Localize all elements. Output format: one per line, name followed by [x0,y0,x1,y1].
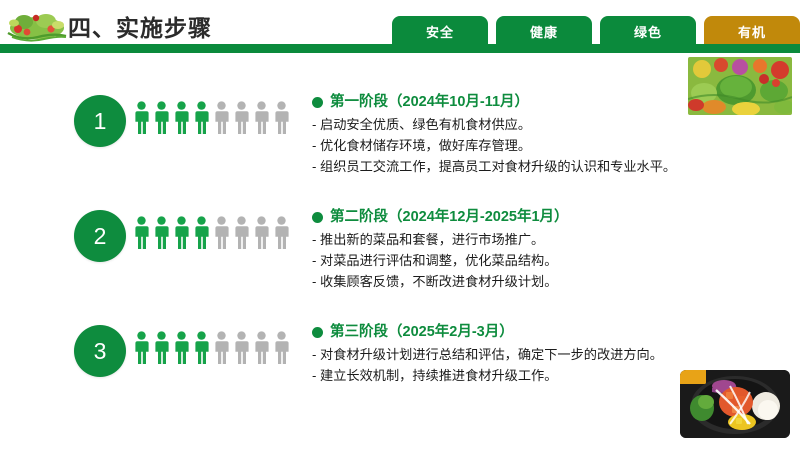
tab-label: 健康 [530,22,558,41]
person-icon [173,331,190,369]
phase-line: - 组织员工交流工作，提高员工对食材升级的认识和专业水平。 [312,156,712,177]
tab-label: 安全 [426,22,454,41]
person-icon [133,216,150,254]
page-title: 四、实施步骤 [68,9,212,43]
phase-title-row: 第二阶段（2024年12月-2025年1月） [312,208,712,226]
person-icon [133,331,150,369]
tab-youji[interactable]: 有机 [704,16,800,46]
phase-line: - 推出新的菜品和套餐，进行市场推广。 [312,229,712,250]
person-icon [153,101,170,139]
tab-anquan[interactable]: 安全 [392,16,488,46]
slide-header: 四、实施步骤 安全 健康 绿色 有机 [0,0,800,53]
tab-lvse[interactable]: 绿色 [600,16,696,46]
person-icon [133,101,150,139]
tab-label: 有机 [738,22,766,41]
people-pictogram-3 [133,331,290,369]
person-icon [193,216,210,254]
person-icon [233,331,250,369]
person-icon [213,101,230,139]
phase-number-badge: 3 [74,325,126,377]
person-icon [173,216,190,254]
phase-number-badge: 2 [74,210,126,262]
person-icon [153,216,170,254]
bullet-dot-icon [312,327,323,338]
phase-line: - 对菜品进行评估和调整，优化菜品结构。 [312,250,712,271]
person-icon [213,216,230,254]
person-icon [173,101,190,139]
phase-text-1: 第一阶段（2024年10月-11月） - 启动安全优质、绿色有机食材供应。 - … [312,93,712,177]
phase-title-label: 第三阶段（2025年2月-3月） [330,323,514,341]
people-pictogram-1 [133,101,290,139]
phase-title-label: 第一阶段（2024年10月-11月） [330,93,529,111]
phase-line: - 收集顾客反馈，不断改进食材升级计划。 [312,271,712,292]
person-icon [253,216,270,254]
person-icon [253,101,270,139]
phase-text-2: 第二阶段（2024年12月-2025年1月） - 推出新的菜品和套餐，进行市场推… [312,208,712,292]
people-pictogram-2 [133,216,290,254]
person-icon [153,331,170,369]
person-icon [253,331,270,369]
person-icon [193,331,210,369]
person-icon [273,331,290,369]
phase-title-row: 第一阶段（2024年10月-11月） [312,93,712,111]
person-icon [233,101,250,139]
header-divider [0,44,800,53]
bullet-dot-icon [312,97,323,108]
person-icon [233,216,250,254]
tab-jiankang[interactable]: 健康 [496,16,592,46]
tab-label: 绿色 [634,22,662,41]
phase-line: - 对食材升级计划进行总结和评估，确定下一步的改进方向。 [312,344,712,365]
bullet-dot-icon [312,212,323,223]
phase-line: - 优化食材储存环境，做好库存管理。 [312,135,712,156]
phase-title-label: 第二阶段（2024年12月-2025年1月） [330,208,569,226]
phase-title-row: 第三阶段（2025年2月-3月） [312,323,712,341]
person-icon [273,101,290,139]
person-icon [273,216,290,254]
category-tabs: 安全 健康 绿色 有机 [392,16,800,46]
vegetables-logo-icon [6,2,68,44]
phase-text-3: 第三阶段（2025年2月-3月） - 对食材升级计划进行总结和评估，确定下一步的… [312,323,712,386]
person-icon [193,101,210,139]
phase-line: - 建立长效机制，持续推进食材升级工作。 [312,365,712,386]
person-icon [213,331,230,369]
phase-number-badge: 1 [74,95,126,147]
phase-line: - 启动安全优质、绿色有机食材供应。 [312,114,712,135]
